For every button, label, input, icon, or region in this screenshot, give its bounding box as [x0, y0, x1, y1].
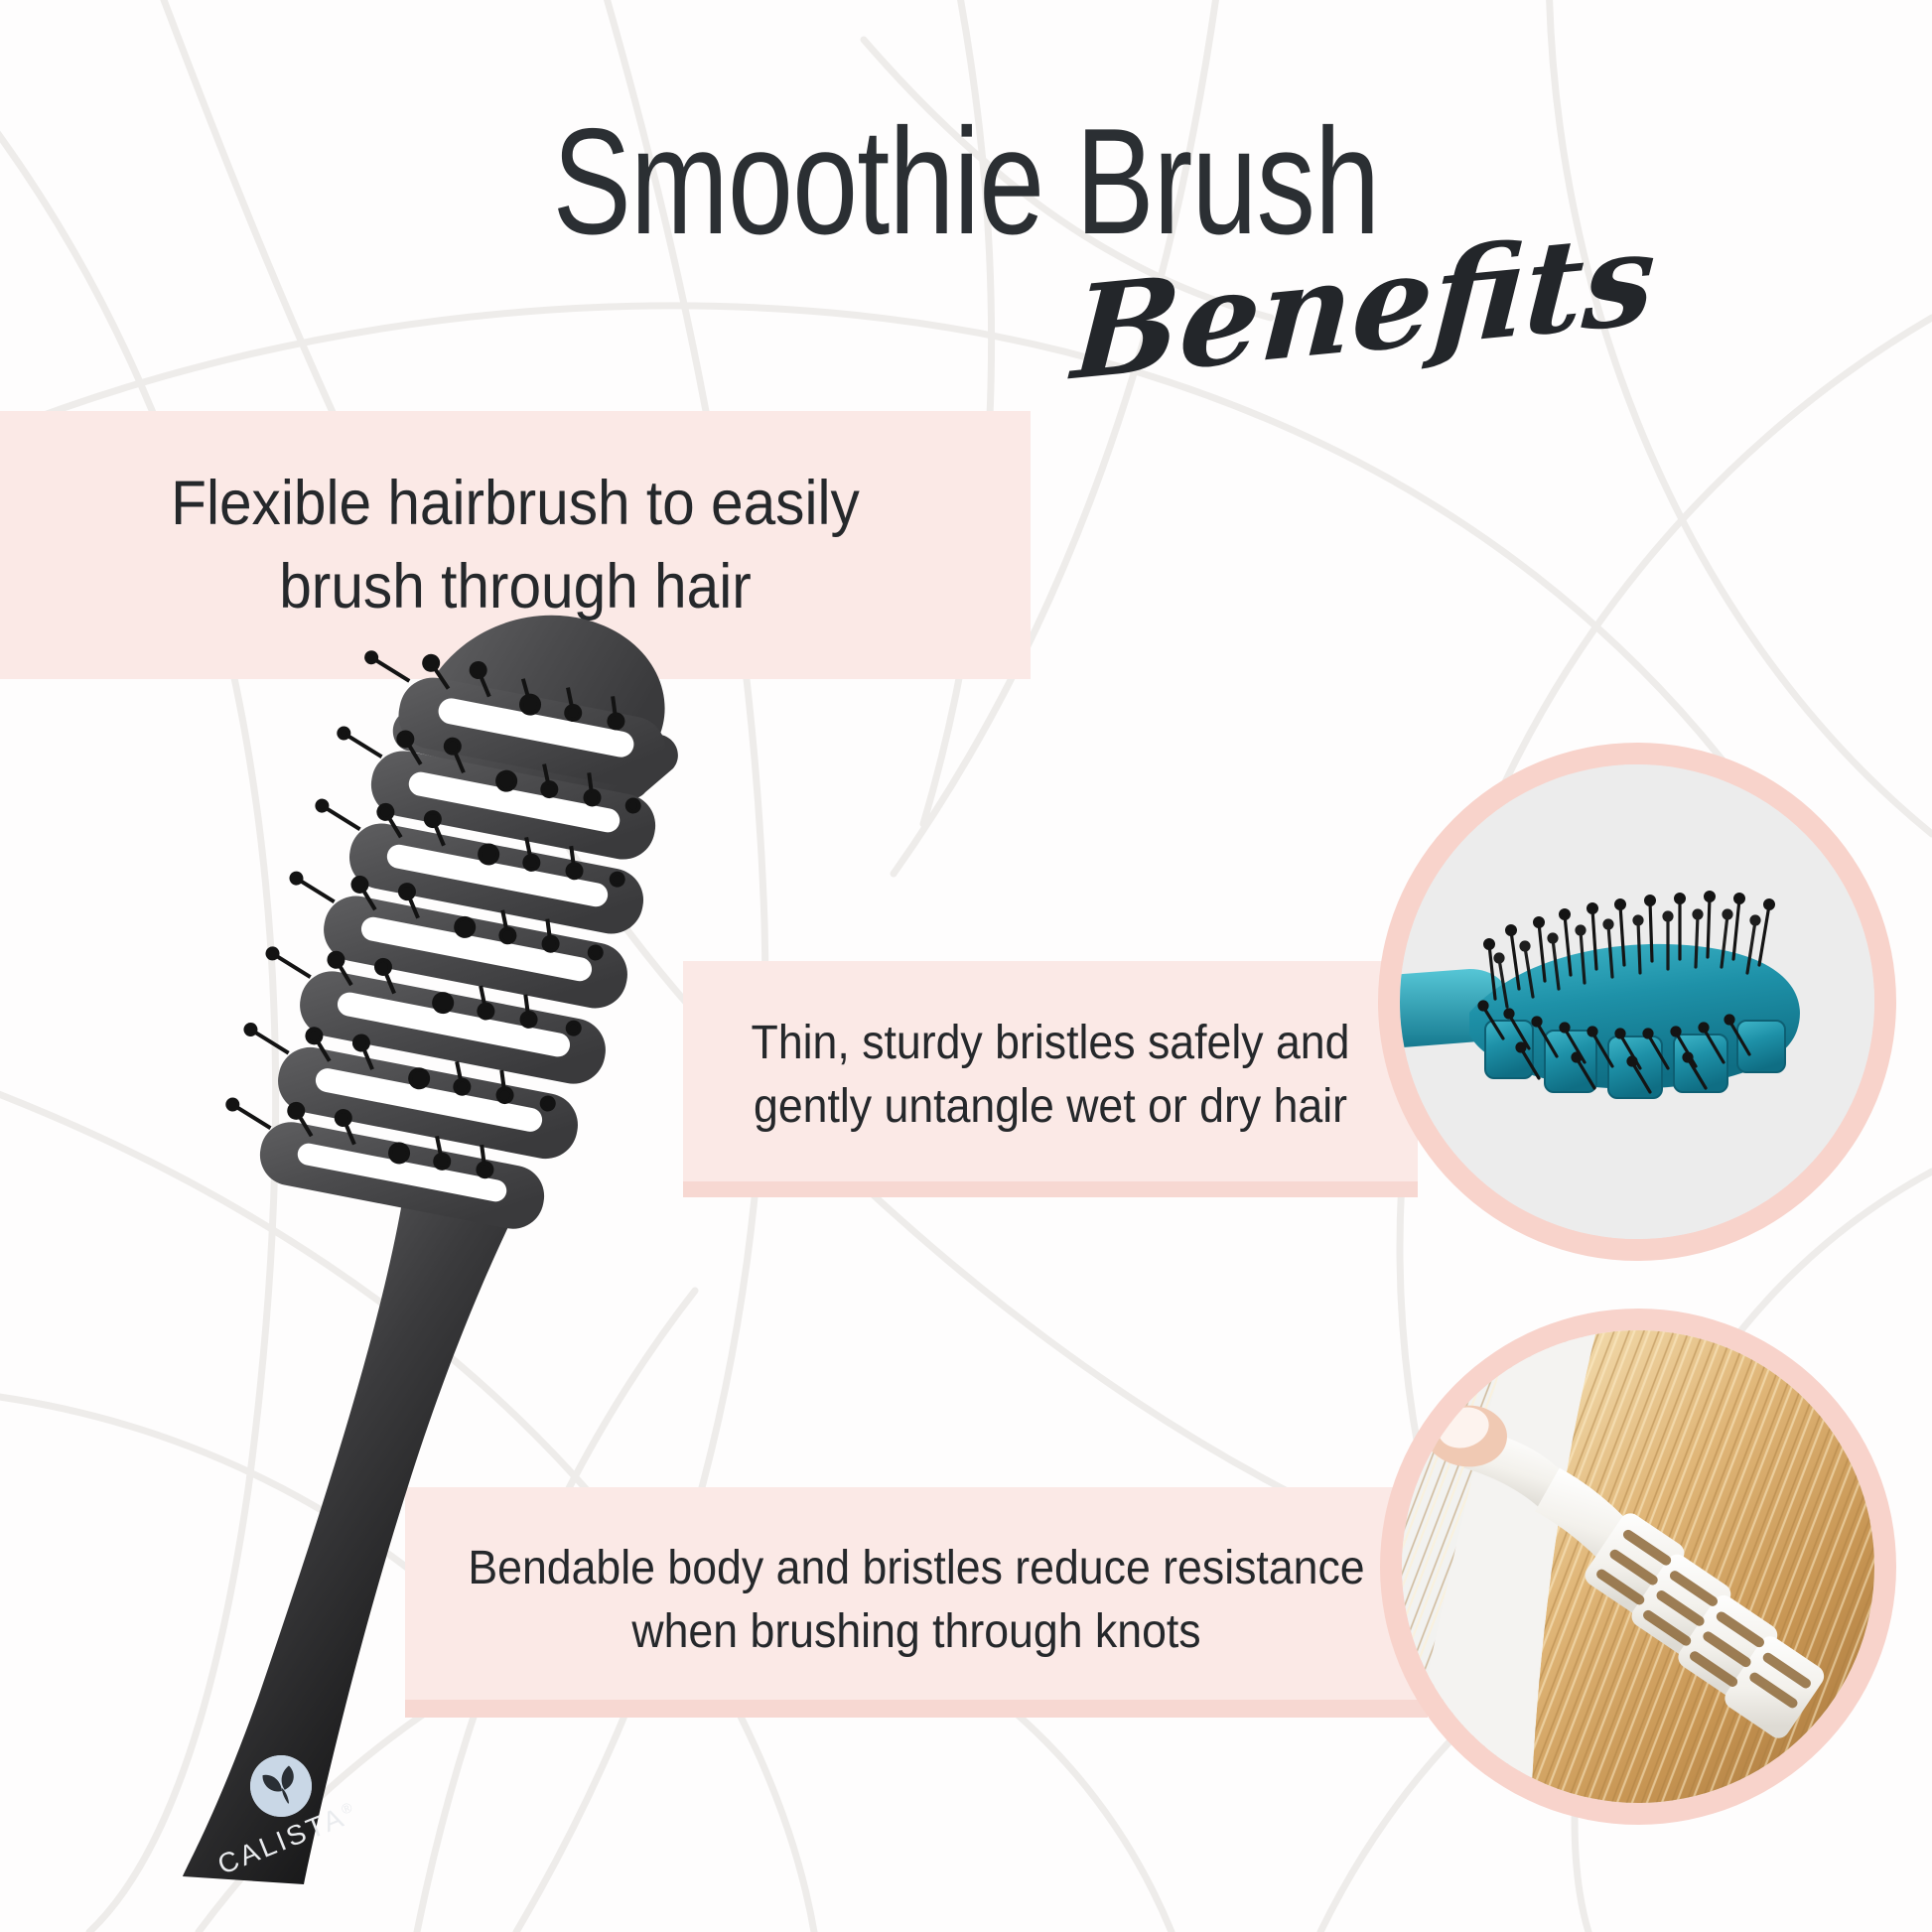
infographic-canvas: Smoothie Brush Benefits	[0, 0, 1932, 1932]
photo-teal-brush	[1378, 743, 1896, 1261]
product-image-flex-brush	[109, 556, 824, 1886]
brand-logo: CALISTA®	[199, 1749, 377, 1898]
photo-white-brush-hair	[1380, 1309, 1896, 1825]
benefits-script-heading: Benefits	[1069, 229, 1502, 399]
circle-image-2	[1402, 1330, 1874, 1803]
circle-image-1	[1400, 764, 1874, 1239]
